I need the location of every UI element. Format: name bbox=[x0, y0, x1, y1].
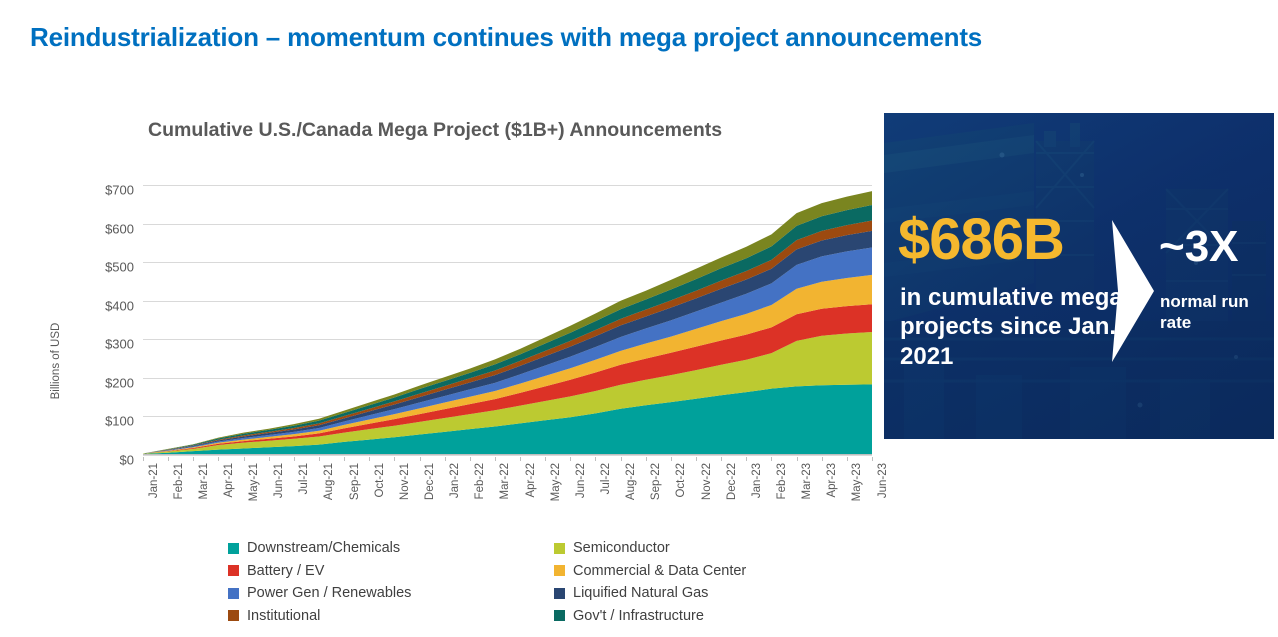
legend-swatch-icon bbox=[554, 588, 565, 599]
callout-figure: $686B bbox=[898, 211, 1064, 269]
legend-item[interactable]: Liquified Natural Gas bbox=[554, 582, 746, 605]
x-axis-tick-label: May-23 bbox=[851, 463, 863, 501]
x-axis-tick bbox=[872, 457, 873, 461]
x-axis-tick-label: Jun-23 bbox=[877, 463, 889, 498]
x-axis-tick bbox=[269, 457, 270, 461]
x-axis-tick bbox=[696, 457, 697, 461]
y-axis-tick-label: $200 bbox=[105, 375, 134, 390]
legend-swatch-icon bbox=[554, 610, 565, 621]
legend-item-label: Commercial & Data Center bbox=[573, 563, 746, 579]
plot-area: Billions of USD $0$100$200$300$400$500$6… bbox=[0, 105, 880, 545]
y-axis-tick-label: $500 bbox=[105, 260, 134, 275]
x-axis-tick-label: Aug-21 bbox=[323, 463, 335, 500]
x-axis-tick bbox=[520, 457, 521, 461]
legend-item[interactable]: Commercial & Data Center bbox=[554, 560, 746, 583]
legend-swatch-icon bbox=[228, 543, 239, 554]
x-axis-tick-label: Jun-21 bbox=[273, 463, 285, 498]
x-axis-tick-label: Jan-22 bbox=[449, 463, 461, 498]
x-axis-tick-label: May-21 bbox=[248, 463, 260, 501]
x-axis-tick-label: Jul-21 bbox=[298, 463, 310, 494]
x-axis-tick-label: Nov-21 bbox=[399, 463, 411, 500]
x-axis-tick-label: Apr-23 bbox=[826, 463, 838, 498]
x-axis-tick bbox=[394, 457, 395, 461]
y-axis-tick-label: $300 bbox=[105, 337, 134, 352]
x-axis-tick-label: Apr-22 bbox=[525, 463, 537, 498]
x-axis-tick-label: Feb-23 bbox=[776, 463, 788, 499]
legend-column-right: SemiconductorCommercial & Data CenterLiq… bbox=[554, 537, 746, 627]
legend-swatch-icon bbox=[228, 610, 239, 621]
x-axis-tick-label: Feb-22 bbox=[474, 463, 486, 499]
x-axis-tick-label: Jul-22 bbox=[600, 463, 612, 494]
x-axis-tick bbox=[721, 457, 722, 461]
x-axis-tick bbox=[646, 457, 647, 461]
y-axis-tick-label: $700 bbox=[105, 183, 134, 198]
x-axis-tick bbox=[621, 457, 622, 461]
right-arrow-icon bbox=[1112, 220, 1154, 362]
y-axis-tick-labels: $0$100$200$300$400$500$600$700 bbox=[58, 185, 134, 455]
legend-column-left: Downstream/ChemicalsBattery / EVPower Ge… bbox=[228, 537, 411, 627]
x-axis-tick bbox=[470, 457, 471, 461]
legend-swatch-icon bbox=[228, 588, 239, 599]
legend-item-label: Semiconductor bbox=[573, 540, 670, 556]
x-axis-tick bbox=[797, 457, 798, 461]
legend-item[interactable]: Semiconductor bbox=[554, 537, 746, 560]
legend-item-label: Gov't / Infrastructure bbox=[573, 608, 704, 624]
y-axis-tick-label: $400 bbox=[105, 298, 134, 313]
callout-panel: $686B in cumulative mega projects since … bbox=[884, 113, 1274, 439]
x-axis-tick bbox=[218, 457, 219, 461]
x-axis-tick-label: Oct-22 bbox=[675, 463, 687, 498]
x-axis-tick bbox=[570, 457, 571, 461]
x-axis-tick-label: Sep-21 bbox=[349, 463, 361, 500]
x-axis-tick bbox=[847, 457, 848, 461]
x-axis-tick-label: Dec-22 bbox=[726, 463, 738, 500]
legend-item-label: Institutional bbox=[247, 608, 320, 624]
x-axis-tick bbox=[746, 457, 747, 461]
legend-item[interactable]: Downstream/Chemicals bbox=[228, 537, 411, 560]
legend-item[interactable]: Institutional bbox=[228, 605, 411, 628]
legend-item-label: Downstream/Chemicals bbox=[247, 540, 400, 556]
legend-item[interactable]: Power Gen / Renewables bbox=[228, 582, 411, 605]
x-axis-tick bbox=[143, 457, 144, 461]
page-title: Reindustrialization – momentum continues… bbox=[30, 22, 982, 53]
legend-swatch-icon bbox=[228, 565, 239, 576]
gridline bbox=[143, 455, 872, 456]
slide-root: Reindustrialization – momentum continues… bbox=[0, 0, 1278, 633]
legend-item[interactable]: Battery / EV bbox=[228, 560, 411, 583]
chart-legend: Downstream/ChemicalsBattery / EVPower Ge… bbox=[0, 537, 880, 637]
x-axis-tick-label: May-22 bbox=[550, 463, 562, 501]
x-axis-tick bbox=[294, 457, 295, 461]
x-axis-tick-label: Mar-22 bbox=[499, 463, 511, 499]
x-axis-tick bbox=[369, 457, 370, 461]
photo-overlay-tint bbox=[884, 113, 1274, 439]
chart-panel: Cumulative U.S./Canada Mega Project ($1B… bbox=[0, 105, 880, 633]
callout-multiple: ~3X bbox=[1159, 225, 1239, 269]
x-axis-tick bbox=[495, 457, 496, 461]
x-axis-tick-label: Jan-23 bbox=[751, 463, 763, 498]
x-axis-tick bbox=[319, 457, 320, 461]
x-axis-tick-label: Mar-21 bbox=[198, 463, 210, 499]
y-axis-tick-label: $0 bbox=[120, 453, 134, 468]
callout-multiple-caption: normal run rate bbox=[1160, 291, 1268, 334]
x-axis-tick-label: Jan-21 bbox=[148, 463, 160, 498]
x-axis-tick bbox=[193, 457, 194, 461]
x-axis-tick bbox=[445, 457, 446, 461]
x-axis-tick-label: Jun-22 bbox=[575, 463, 587, 498]
x-axis-tick bbox=[344, 457, 345, 461]
x-axis-tick bbox=[244, 457, 245, 461]
legend-swatch-icon bbox=[554, 543, 565, 554]
x-axis-tick bbox=[545, 457, 546, 461]
legend-item-label: Power Gen / Renewables bbox=[247, 585, 411, 601]
x-axis-tick bbox=[771, 457, 772, 461]
x-axis-tick bbox=[420, 457, 421, 461]
x-axis-tick-label: Oct-21 bbox=[374, 463, 386, 498]
legend-swatch-icon bbox=[554, 565, 565, 576]
x-axis-tick-label: Dec-21 bbox=[424, 463, 436, 500]
x-axis-tick bbox=[671, 457, 672, 461]
legend-item-label: Battery / EV bbox=[247, 563, 324, 579]
x-axis-tick-label: Mar-23 bbox=[801, 463, 813, 499]
x-axis-line bbox=[143, 454, 872, 455]
y-axis-tick-label: $100 bbox=[105, 414, 134, 429]
x-axis-tick-label: Apr-21 bbox=[223, 463, 235, 498]
x-axis-tick bbox=[168, 457, 169, 461]
legend-item-label: Liquified Natural Gas bbox=[573, 585, 708, 601]
x-axis-tick-label: Nov-22 bbox=[701, 463, 713, 500]
x-axis-tick bbox=[822, 457, 823, 461]
legend-item[interactable]: Gov't / Infrastructure bbox=[554, 605, 746, 628]
x-axis-tick-label: Sep-22 bbox=[650, 463, 662, 500]
x-axis-tick-label: Aug-22 bbox=[625, 463, 637, 500]
y-axis-tick-label: $600 bbox=[105, 221, 134, 236]
callout-description: in cumulative mega projects since Jan. 2… bbox=[900, 283, 1130, 371]
x-axis-tick-label: Feb-21 bbox=[173, 463, 185, 499]
stacked-area-plot bbox=[143, 185, 872, 455]
area-series-group bbox=[143, 185, 872, 455]
x-axis-tick bbox=[595, 457, 596, 461]
